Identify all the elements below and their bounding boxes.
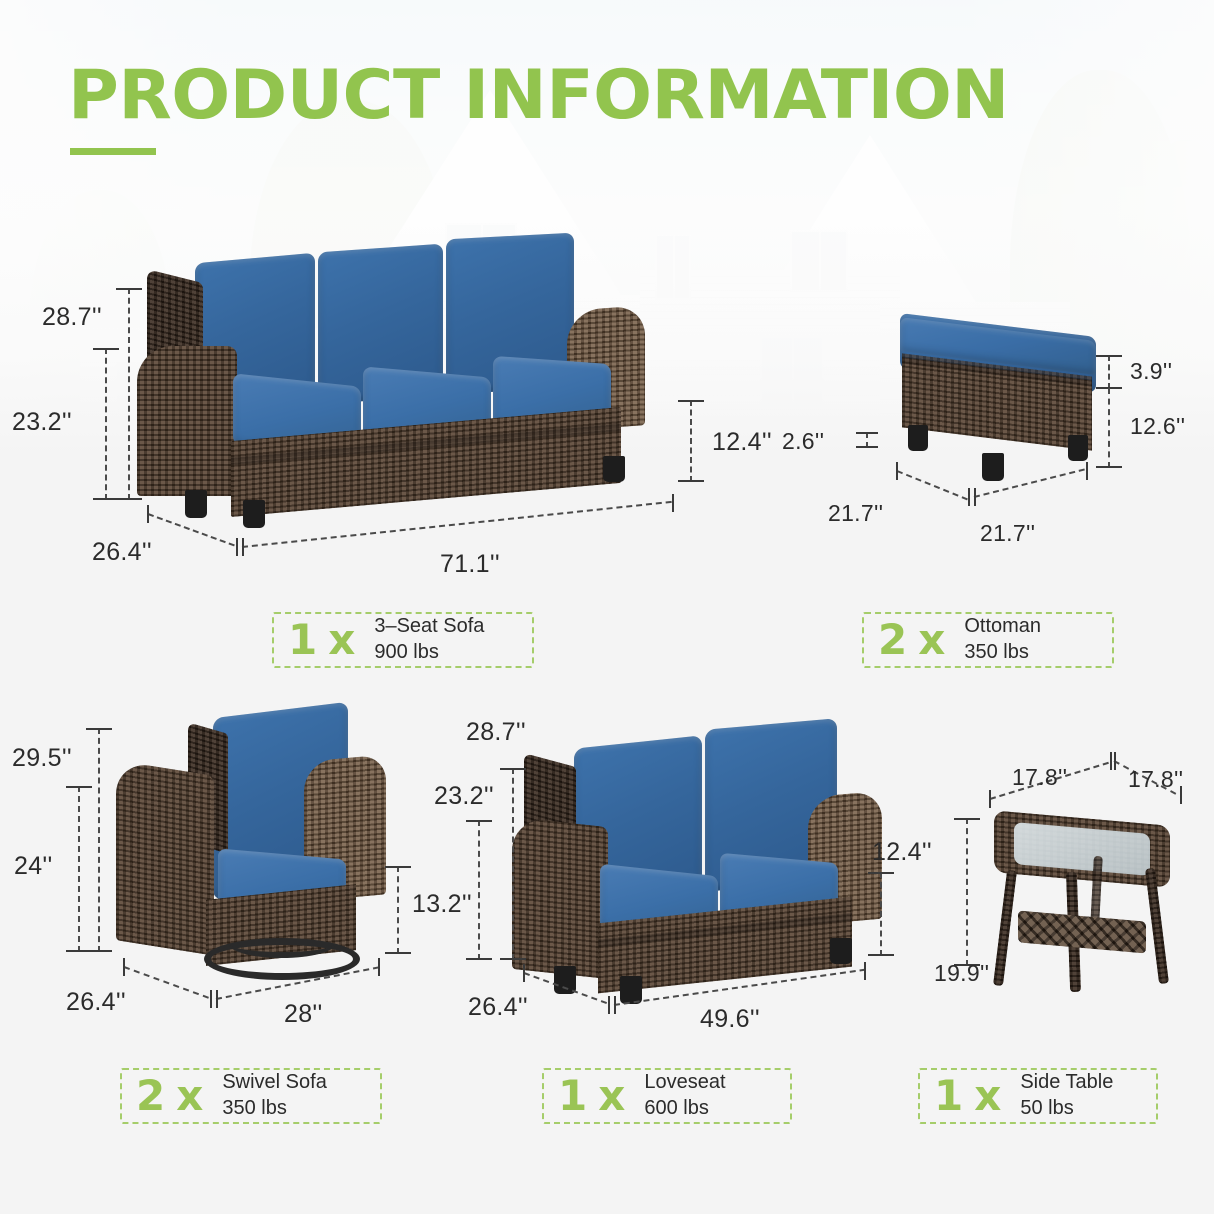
dimension-cap [93, 348, 119, 350]
dimension-line-swivel-overall-height [98, 728, 100, 952]
dimension-cap [1086, 462, 1088, 480]
dimension-table-top-width: 17.8'' [1128, 766, 1183, 793]
qty-label-ottoman: 2x Ottoman 350 lbs [862, 612, 1114, 668]
product-illustration-loveseat [512, 712, 877, 992]
dimension-cap [864, 962, 866, 980]
product-name: Ottoman [964, 614, 1041, 640]
qty-count: 1 [558, 1071, 588, 1120]
qty-multiplier: x [974, 1071, 1002, 1120]
dimension-cap [896, 462, 898, 480]
dimension-cap [1110, 752, 1112, 770]
title-underline [70, 148, 156, 155]
dimension-cap [856, 446, 878, 448]
dimension-table-top-depth: 17.8'' [1012, 764, 1067, 791]
qty-description: Loveseat 600 lbs [644, 1070, 725, 1121]
dimension-cap [500, 958, 526, 960]
qty-multiplier: x [328, 615, 356, 664]
dimension-cap [678, 480, 704, 482]
qty-multiplier: x [598, 1071, 626, 1120]
dimension-sofa-overall-height: 28.7'' [42, 303, 102, 332]
qty-count: 1 [288, 615, 318, 664]
dimension-cap [378, 958, 380, 976]
dimension-line-ottoman-cushion [1108, 355, 1110, 389]
dimension-swivel-depth: 26.4'' [66, 988, 126, 1017]
dimension-cap [123, 958, 125, 976]
dimension-ottoman-width: 21.7'' [980, 520, 1035, 547]
swivel-arm-left [116, 760, 214, 956]
qty-multiplier: x [176, 1071, 204, 1120]
product-illustration-ottoman [886, 325, 1118, 490]
dimension-cap [608, 996, 610, 1014]
ottoman-foot [1068, 435, 1088, 461]
dimension-loveseat-depth: 26.4'' [468, 993, 528, 1022]
dimension-cap [1096, 466, 1122, 468]
qty-description: Ottoman 350 lbs [964, 614, 1041, 665]
dimension-line-loveseat-seat-height [880, 872, 882, 956]
table-leg [993, 870, 1017, 986]
dimension-swivel-width: 28'' [284, 1000, 323, 1029]
sofa-foot [603, 456, 625, 482]
dimension-cap [1096, 355, 1122, 357]
dimension-line-sofa-seat-height [690, 400, 692, 482]
product-name: Swivel Sofa [222, 1070, 327, 1096]
dimension-cap [466, 958, 492, 960]
dimension-cap [989, 790, 991, 808]
dimension-sofa-depth: 26.4'' [92, 538, 152, 567]
product-illustration-three-seat-sofa [135, 228, 700, 528]
dimension-line-swivel-seat-height [397, 866, 399, 954]
dimension-table-height: 19.9'' [934, 960, 989, 987]
dimension-cap [856, 432, 878, 434]
product-weight: 350 lbs [964, 640, 1041, 666]
qty-description: Side Table 50 lbs [1020, 1070, 1113, 1121]
dimension-cap [385, 952, 411, 954]
sofa-foot [185, 490, 207, 518]
dimension-loveseat-back-height: 23.2'' [434, 782, 494, 811]
qty-value: 2x [878, 619, 946, 661]
dimension-ottoman-overall-height: 12.6'' [1130, 413, 1185, 440]
product-weight: 900 lbs [374, 640, 484, 666]
dimension-sofa-width: 71.1'' [440, 550, 500, 579]
dimension-swivel-seat-height: 13.2'' [412, 890, 472, 919]
dimension-loveseat-seat-height: 12.4'' [872, 838, 932, 867]
product-illustration-side-table [992, 812, 1172, 997]
qty-value: 2x [136, 1075, 204, 1117]
dimension-cap [242, 538, 244, 556]
product-weight: 350 lbs [222, 1096, 327, 1122]
dimension-cap [868, 954, 894, 956]
qty-value: 1x [288, 619, 356, 661]
dimension-line-sofa-overall-height [128, 288, 130, 500]
dimension-cap [385, 866, 411, 868]
dimension-cap [116, 288, 142, 290]
sofa-foot [243, 500, 265, 528]
dimension-cap [614, 996, 616, 1014]
dimension-line-table-height [966, 818, 968, 966]
dimension-cap [954, 818, 980, 820]
dimension-loveseat-width: 49.6'' [700, 1005, 760, 1034]
qty-label-loveseat: 1x Loveseat 600 lbs [542, 1068, 792, 1124]
dimension-cap [210, 990, 212, 1008]
qty-description: 3–Seat Sofa 900 lbs [374, 614, 484, 665]
dimension-cap [116, 498, 142, 500]
ottoman-foot [908, 425, 928, 451]
dimension-swivel-overall-height: 29.5'' [12, 744, 72, 773]
dimension-cap [500, 768, 526, 770]
dimension-cap [968, 488, 970, 506]
qty-label-side-table: 1x Side Table 50 lbs [918, 1068, 1158, 1124]
qty-multiplier: x [918, 615, 946, 664]
dimension-cap [93, 498, 119, 500]
dimension-cap [678, 400, 704, 402]
dimension-cap [147, 505, 149, 523]
dimension-ottoman-leg-height: 2.6'' [782, 428, 824, 455]
product-name: Side Table [1020, 1070, 1113, 1096]
table-leg [1145, 868, 1169, 984]
qty-value: 1x [558, 1075, 626, 1117]
swivel-brace [228, 928, 336, 958]
product-weight: 50 lbs [1020, 1096, 1113, 1122]
dimension-line-ottoman-height [1108, 388, 1110, 468]
dimension-cap [216, 990, 218, 1008]
qty-count: 1 [934, 1071, 964, 1120]
product-information-infographic: PRODUCT INFORMATION 28.7'' 23.2'' 12.4'' [0, 0, 1214, 1214]
qty-value: 1x [934, 1075, 1002, 1117]
qty-label-swivel-sofa: 2x Swivel Sofa 350 lbs [120, 1068, 382, 1124]
dimension-cap [466, 820, 492, 822]
dimension-ottoman-cushion-thickness: 3.9'' [1130, 358, 1172, 385]
product-name: 3–Seat Sofa [374, 614, 484, 640]
table-lower-shelf [1018, 910, 1146, 953]
page-title: PRODUCT INFORMATION [68, 62, 1009, 130]
dimension-cap [974, 488, 976, 506]
sofa-arm-left [137, 346, 237, 496]
qty-label-three-seat-sofa: 1x 3–Seat Sofa 900 lbs [272, 612, 534, 668]
dimension-line-loveseat-overall-height [512, 768, 514, 960]
dimension-sofa-seat-height: 12.4'' [712, 428, 772, 457]
dimension-line-sofa-back-height [105, 348, 107, 500]
dimension-cap [86, 728, 112, 730]
dimension-cap [868, 872, 894, 874]
dimension-cap [66, 950, 92, 952]
qty-count: 2 [878, 615, 908, 664]
dimension-loveseat-overall-height: 28.7'' [466, 718, 526, 747]
dimension-cap [1114, 752, 1116, 770]
product-illustration-swivel-sofa [108, 706, 398, 986]
ottoman-foot [982, 453, 1004, 481]
loveseat-foot [830, 938, 852, 964]
dimension-sofa-back-height: 23.2'' [12, 408, 72, 437]
dimension-line-loveseat-back-height [478, 820, 480, 960]
dimension-cap [66, 786, 92, 788]
qty-count: 2 [136, 1071, 166, 1120]
product-weight: 600 lbs [644, 1096, 725, 1122]
qty-description: Swivel Sofa 350 lbs [222, 1070, 327, 1121]
dimension-cap [672, 494, 674, 512]
dimension-ottoman-depth: 21.7'' [828, 500, 883, 527]
product-name: Loveseat [644, 1070, 725, 1096]
dimension-cap [523, 964, 525, 982]
dimension-swivel-back-height: 24'' [14, 852, 53, 881]
dimension-cap [236, 538, 238, 556]
loveseat-arm-left [512, 817, 608, 979]
dimension-line-swivel-back-height [78, 786, 80, 952]
